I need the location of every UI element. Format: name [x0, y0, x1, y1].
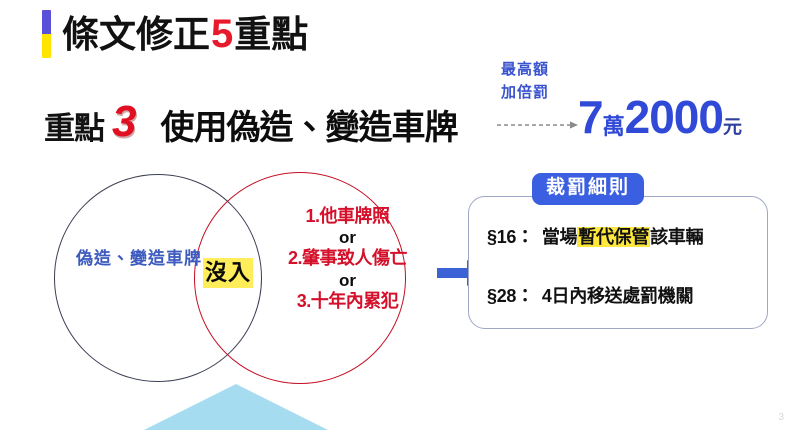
venn-right-conjunction-2: or: [260, 270, 435, 291]
venn-right-list: 1.他車牌照 or 2.肇事致人傷亡 or 3.十年內累犯: [260, 206, 435, 312]
dashed-arrow-right-icon: [496, 119, 582, 131]
amount-unit-yuan: 元: [723, 118, 742, 140]
rule-1-section: §16：: [487, 227, 534, 247]
title-accent-bar: [42, 10, 51, 58]
title-number: 5: [210, 12, 234, 56]
rule-row-1: §16：當場暫代保管該車輛: [487, 223, 759, 249]
rule-2-before: 4日內移送處罰機關: [542, 286, 693, 306]
rule-2-section: §28：: [487, 286, 534, 306]
penalty-note-line-2: 加倍罰: [501, 81, 549, 104]
page-title: 條文修正5重點: [62, 14, 308, 54]
amount-value-2: 2000: [625, 96, 723, 140]
rule-1-highlight: 暫代保管: [577, 227, 650, 247]
venn-right-item-1: 1.他車牌照: [260, 206, 435, 227]
rules-panel: §16：當場暫代保管該車輛 §28：4日內移送處罰機關: [468, 196, 768, 329]
page-number: 3: [778, 412, 784, 423]
venn-diagram: 偽造、變造車牌 沒入 1.他車牌照 or 2.肇事致人傷亡 or 3.十年內累犯: [48, 168, 448, 388]
headline-main-text: 使用偽造、變造車牌: [160, 100, 457, 149]
rule-1-after: 該車輛: [650, 227, 703, 247]
slide-title: 條文修正5重點: [42, 10, 308, 58]
venn-intersection-label: 沒入: [203, 258, 253, 288]
penalty-amount: 7 萬 2000 元: [578, 96, 742, 140]
title-prefix: 條文修正: [62, 14, 210, 55]
amount-value-1: 7: [578, 96, 603, 140]
amount-unit-wan: 萬: [603, 116, 625, 140]
penalty-note-line-1: 最高額: [501, 58, 549, 81]
rule-1-before: 當場: [542, 227, 577, 247]
penalty-note: 最高額 加倍罰: [501, 58, 549, 105]
slide-canvas: 條文修正5重點 重點 3 使用偽造、變造車牌 最高額 加倍罰 7 萬 2000 …: [0, 0, 794, 430]
point-number: 3: [112, 97, 136, 147]
decorative-triangle: [140, 384, 332, 430]
point-label: 重點: [44, 103, 104, 148]
venn-right-conjunction-1: or: [260, 227, 435, 248]
venn-right-item-3: 3.十年內累犯: [260, 291, 435, 312]
title-suffix: 重點: [234, 14, 308, 55]
rule-row-2: §28：4日內移送處罰機關: [487, 282, 759, 308]
venn-right-item-2: 2.肇事致人傷亡: [260, 248, 435, 269]
headline-row: 重點 3 使用偽造、變造車牌: [44, 100, 457, 150]
rules-panel-badge: 裁罰細則: [532, 173, 644, 205]
